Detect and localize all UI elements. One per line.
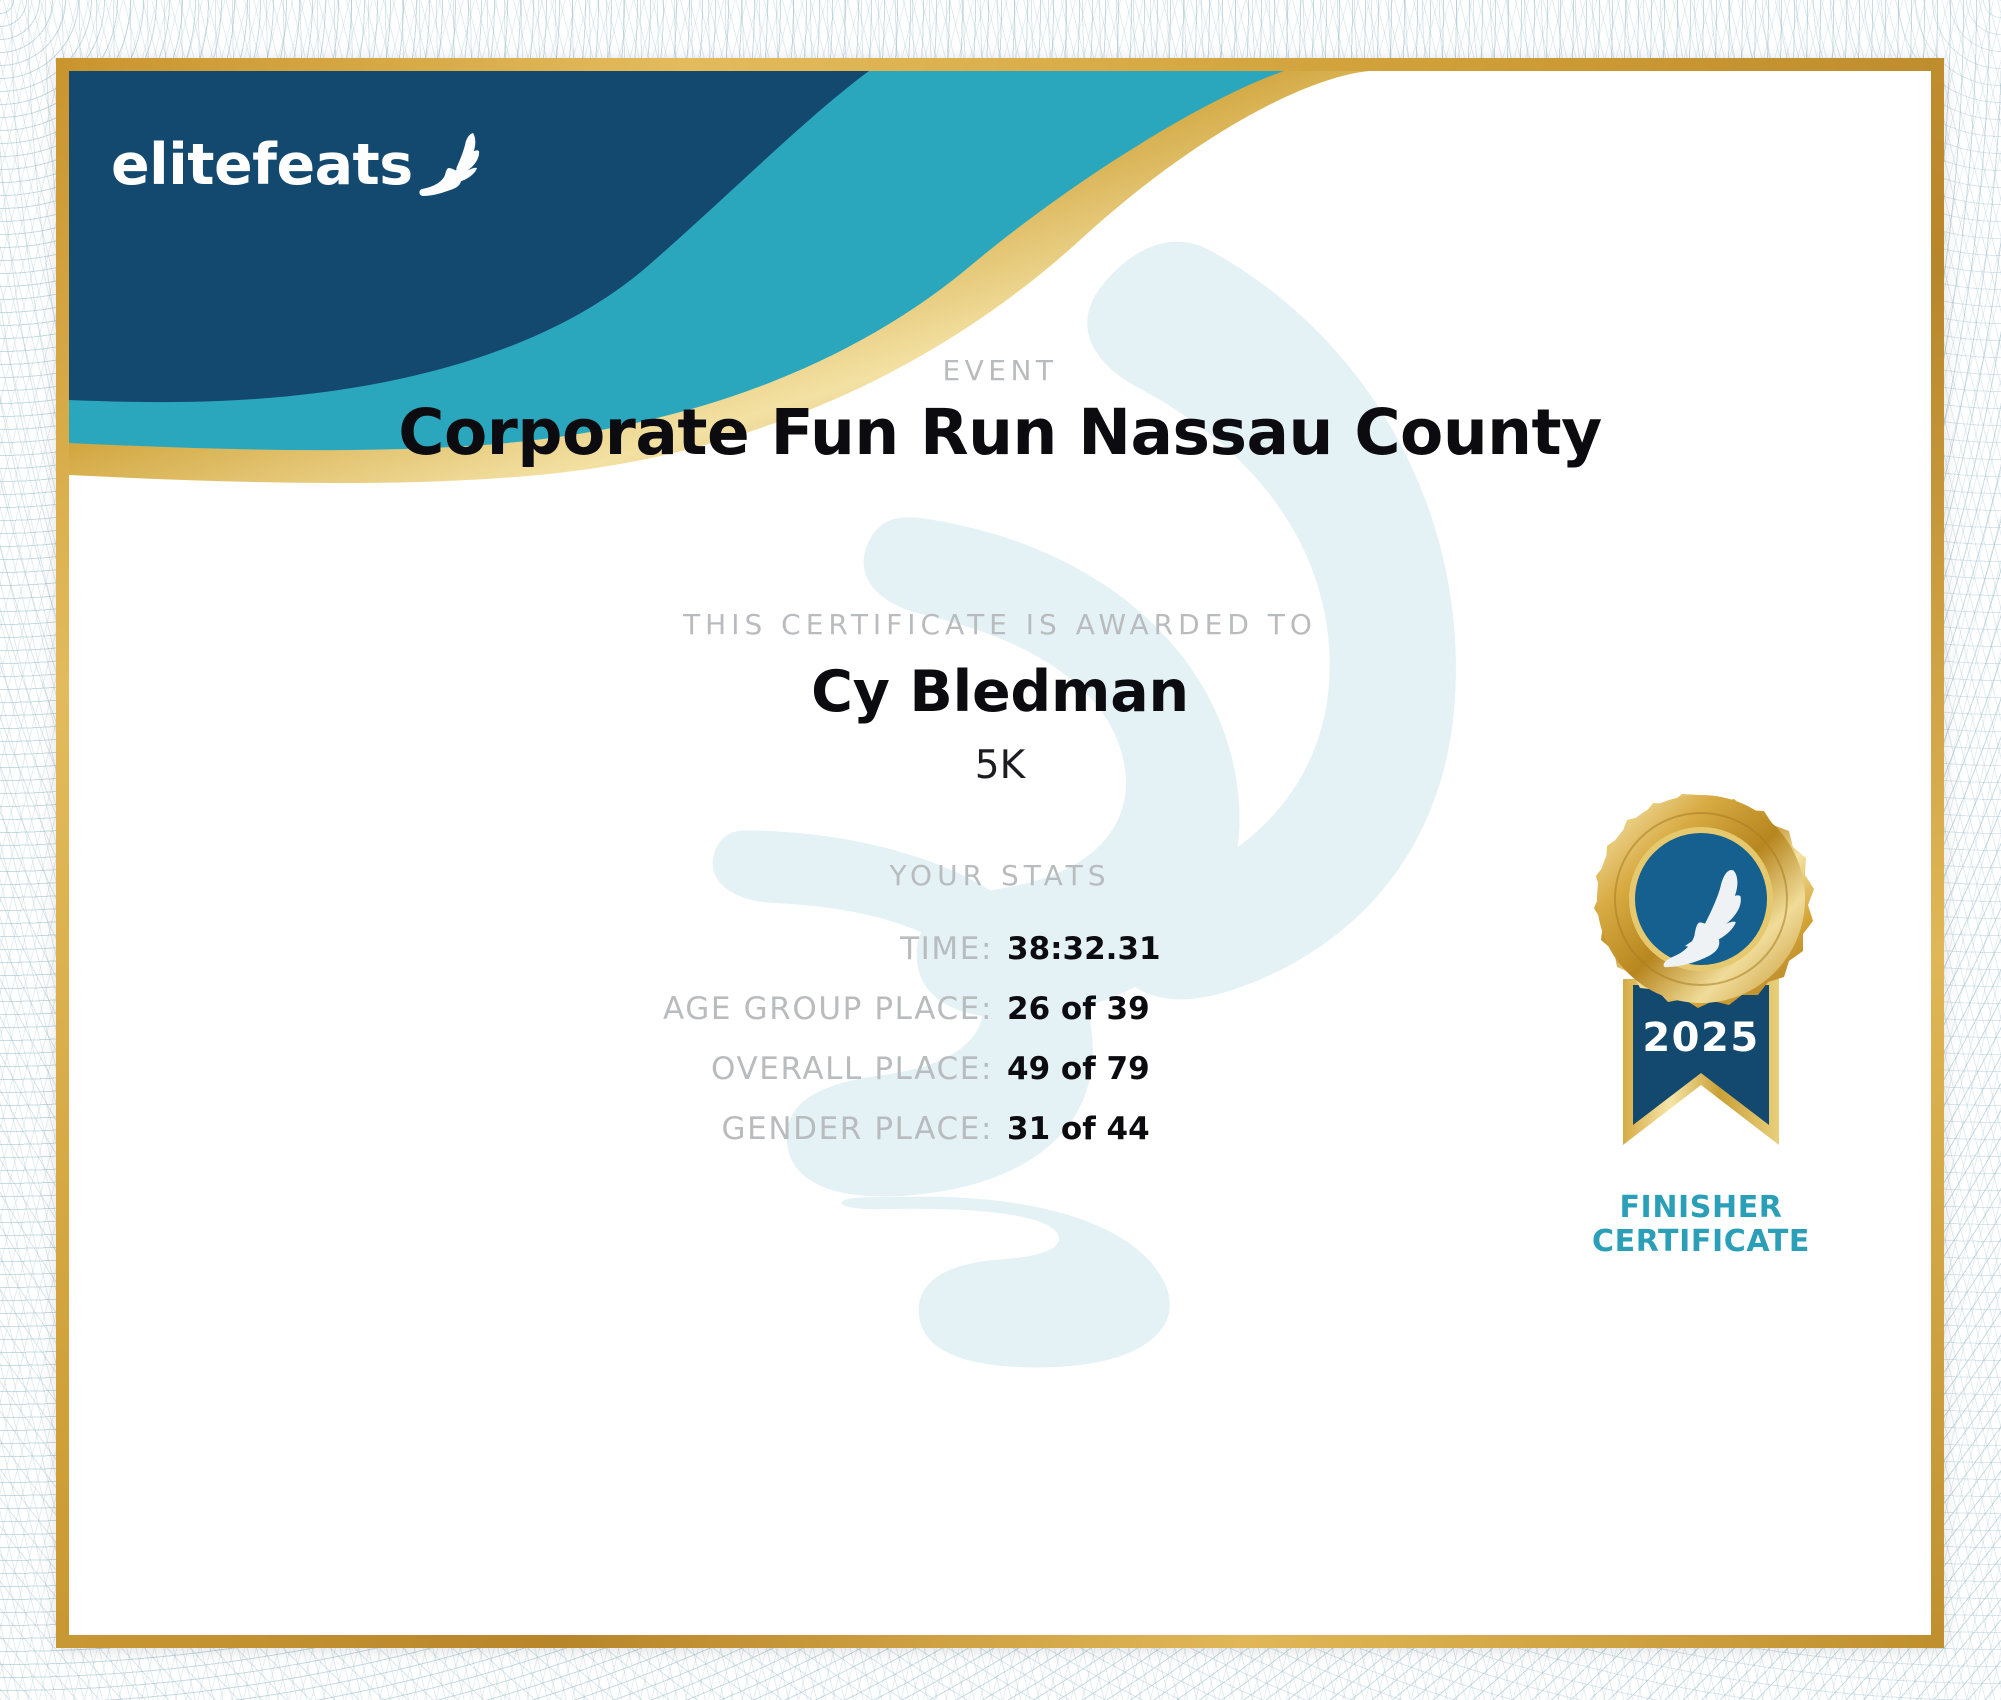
badge-caption: FINISHER CERTIFICATE — [1551, 1191, 1851, 1259]
recipient-name: Cy Bledman — [69, 659, 1931, 725]
race-distance: 5K — [69, 743, 1931, 788]
badge-caption-line1: FINISHER — [1551, 1191, 1851, 1225]
brand-logo: elitefeats — [111, 129, 483, 201]
winged-foot-icon — [419, 129, 483, 201]
stat-label-overall-place: OVERALL PLACE: — [303, 1051, 993, 1087]
awarded-to-label: THIS CERTIFICATE IS AWARDED TO — [69, 608, 1931, 641]
medal-seal-icon: 2025 — [1551, 789, 1851, 1189]
certificate-page: elitefeats EVENT Corporate Fun Run Nassa… — [0, 0, 2001, 1700]
stat-label-gender-place: GENDER PLACE: — [303, 1111, 993, 1147]
certificate-frame: elitefeats EVENT Corporate Fun Run Nassa… — [56, 58, 1944, 1648]
stat-label-age-group-place: AGE GROUP PLACE: — [303, 991, 993, 1027]
event-label: EVENT — [69, 354, 1931, 387]
event-title: Corporate Fun Run Nassau County — [69, 396, 1931, 469]
stat-label-time: TIME: — [303, 931, 993, 967]
badge-caption-line2: CERTIFICATE — [1551, 1225, 1851, 1259]
brand-name: elitefeats — [111, 137, 413, 194]
finisher-badge: 2025 FINISHER CERTIFICATE — [1551, 789, 1851, 1259]
badge-year: 2025 — [1642, 1015, 1759, 1061]
